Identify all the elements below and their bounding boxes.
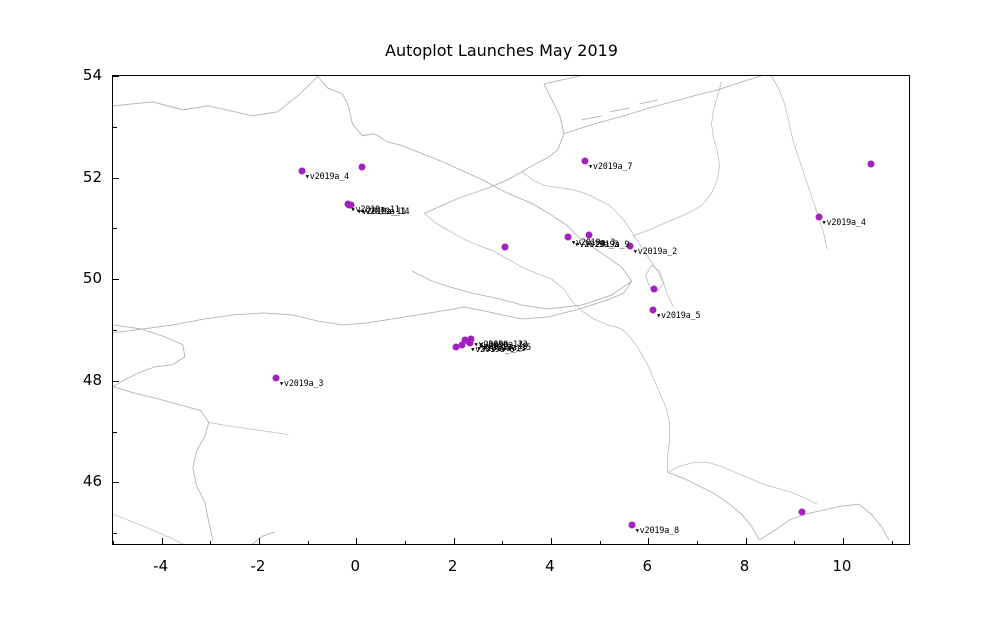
scatter-point-label: ▾v2019a_5 (656, 311, 700, 321)
x-tick-label: 6 (642, 557, 652, 575)
x-minor-tick (502, 541, 503, 545)
x-tick (454, 538, 455, 544)
scatter-point (502, 244, 509, 251)
y-tick (113, 279, 119, 280)
x-tick (356, 538, 357, 544)
y-tick-label: 54 (64, 66, 102, 84)
scatter-point-label: ▾v2019a_7 (588, 162, 632, 172)
scatter-point-label: ▾v2019a_4 (305, 172, 349, 182)
y-tick (113, 482, 119, 483)
scatter-point-label: ▾v2019a_15 (482, 343, 531, 353)
x-tick (162, 538, 163, 544)
scatter-point-label: ▾v2019a_3 (279, 379, 323, 389)
x-tick-label: 0 (351, 557, 361, 575)
x-minor-tick (697, 541, 698, 545)
scatter-point (452, 344, 459, 351)
y-tick (113, 76, 119, 77)
scatter-point-label: ▾v2019a_2 (633, 247, 677, 257)
x-minor-tick (308, 541, 309, 545)
scatter-plot-axes: ▾v2019a_4▾v2019a_11▾v2019a_7▾v2019a_4▾v2… (112, 75, 910, 545)
x-minor-tick (405, 541, 406, 545)
x-tick (746, 538, 747, 544)
y-minor-tick (113, 432, 117, 433)
x-tick-label: 2 (448, 557, 458, 575)
scatter-point (868, 160, 875, 167)
basemap-coastlines (113, 76, 909, 544)
scatter-point (799, 508, 806, 515)
scatter-point-label: ▾v2019a_9 (585, 240, 629, 250)
page-title: Autoplot Launches May 2019 (0, 41, 1003, 60)
scatter-point (651, 286, 658, 293)
y-tick (113, 381, 119, 382)
x-tick-label: 4 (545, 557, 555, 575)
x-tick-label: -2 (250, 557, 265, 575)
scatter-point-label: ▾v2019a_14 (360, 207, 409, 217)
x-tick-label: -4 (153, 557, 168, 575)
x-tick (551, 538, 552, 544)
x-tick (648, 538, 649, 544)
x-minor-tick (794, 541, 795, 545)
matplotlib-figure: Autoplot Launches May 2019 (0, 0, 1003, 633)
y-tick-label: 50 (64, 269, 102, 287)
y-minor-tick (113, 330, 117, 331)
x-minor-tick (210, 541, 211, 545)
x-tick-label: 10 (832, 557, 851, 575)
scatter-point (462, 337, 469, 344)
x-minor-tick (113, 541, 114, 545)
scatter-point-label: ▾v2019a_4 (822, 218, 866, 228)
y-minor-tick (113, 533, 117, 534)
y-minor-tick (113, 127, 117, 128)
x-minor-tick (892, 541, 893, 545)
x-tick-label: 8 (740, 557, 750, 575)
x-tick (843, 538, 844, 544)
x-tick (259, 538, 260, 544)
y-tick-label: 52 (64, 168, 102, 186)
scatter-point-label: ▾v2019a_8 (635, 526, 679, 536)
y-minor-tick (113, 228, 117, 229)
y-tick-label: 48 (64, 371, 102, 389)
y-tick-label: 46 (64, 472, 102, 490)
scatter-point (359, 164, 366, 171)
y-tick (113, 178, 119, 179)
x-minor-tick (600, 541, 601, 545)
